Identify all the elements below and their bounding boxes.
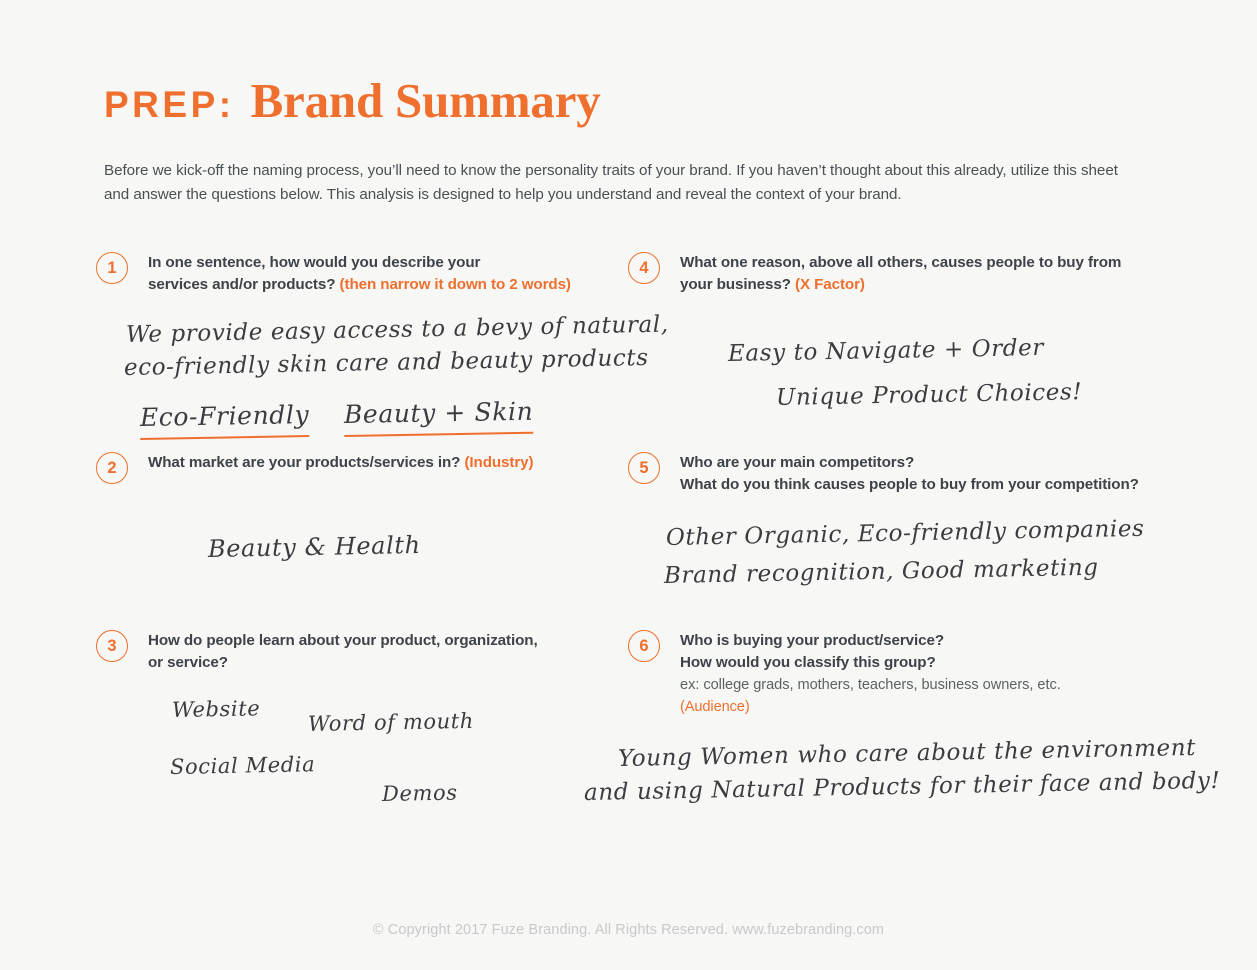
page-title: PREP: Brand Summary xyxy=(104,76,1164,125)
answer-3-item-4: Demos xyxy=(382,781,458,806)
answer-4-line-1: Easy to Navigate + Order xyxy=(728,335,1044,367)
question-text-1: In one sentence, how would you describe … xyxy=(148,252,571,296)
question-text-5: Who are your main competitors? What do y… xyxy=(680,452,1139,496)
question-hint-2: (Industry) xyxy=(464,454,533,471)
question-number-badge-5: 5 xyxy=(628,452,660,484)
question-text-6: Who is buying your product/service? How … xyxy=(680,630,1061,719)
answer-1-line-2: eco-friendly skin care and beauty produc… xyxy=(124,345,649,381)
question-line-4b: your business? xyxy=(680,276,791,293)
answer-3-item-1: Website xyxy=(172,696,261,722)
question-text-3: How do people learn about your product, … xyxy=(148,630,538,674)
answer-1-keyword-1: Eco-Friendly xyxy=(140,400,310,440)
answer-6-line-2: and using Natural Products for their fac… xyxy=(584,768,1221,806)
title-prefix: PREP: xyxy=(104,86,235,123)
question-block-6: 6 Who is buying your product/service? Ho… xyxy=(628,630,1061,719)
answer-3-item-2: Word of mouth xyxy=(308,709,474,736)
page-header: PREP: Brand Summary Before we kick-off t… xyxy=(104,76,1164,207)
question-line-1b: services and/or products? xyxy=(148,276,335,293)
question-line-3b: or service? xyxy=(148,654,228,671)
worksheet-page: PREP: Brand Summary Before we kick-off t… xyxy=(0,0,1257,970)
question-number-badge-2: 2 xyxy=(96,452,128,484)
intro-paragraph: Before we kick-off the naming process, y… xyxy=(104,159,1139,207)
footer-copyright: © Copyright 2017 Fuze Branding. All Righ… xyxy=(0,922,1257,938)
question-line-2a: What market are your products/services i… xyxy=(148,454,460,471)
title-main: Brand Summary xyxy=(251,76,601,125)
question-block-2: 2 What market are your products/services… xyxy=(96,452,533,486)
question-line-4a: What one reason, above all others, cause… xyxy=(680,254,1121,271)
question-block-4: 4 What one reason, above all others, cau… xyxy=(628,252,1121,296)
answer-4-line-2: Unique Product Choices! xyxy=(776,379,1083,411)
question-number-badge-4: 4 xyxy=(628,252,660,284)
question-line-6b: How would you classify this group? xyxy=(680,654,936,671)
question-number-badge-3: 3 xyxy=(96,630,128,662)
question-block-5: 5 Who are your main competitors? What do… xyxy=(628,452,1139,496)
answer-2-line-1: Beauty & Health xyxy=(208,531,421,563)
question-heading-1: 1 In one sentence, how would you describ… xyxy=(96,252,571,296)
question-heading-3: 3 How do people learn about your product… xyxy=(96,630,538,674)
question-line-1a: In one sentence, how would you describe … xyxy=(148,254,480,271)
question-heading-4: 4 What one reason, above all others, cau… xyxy=(628,252,1121,296)
question-text-2: What market are your products/services i… xyxy=(148,452,533,474)
question-example-6: ex: college grads, mothers, teachers, bu… xyxy=(680,677,1061,693)
question-hint-6: (Audience) xyxy=(680,699,750,715)
answer-5-line-1: Other Organic, Eco-friendly companies xyxy=(666,516,1145,551)
answer-1-keyword-2: Beauty + Skin xyxy=(344,397,534,437)
answer-3-item-3: Social Media xyxy=(170,752,316,779)
question-line-5a: Who are your main competitors? xyxy=(680,454,914,471)
answer-6-line-1: Young Women who care about the environme… xyxy=(618,735,1196,772)
question-block-1: 1 In one sentence, how would you describ… xyxy=(96,252,571,296)
question-line-6a: Who is buying your product/service? xyxy=(680,632,944,649)
question-line-3a: How do people learn about your product, … xyxy=(148,632,538,649)
question-block-3: 3 How do people learn about your product… xyxy=(96,630,538,674)
answer-5-line-2: Brand recognition, Good marketing xyxy=(664,555,1099,589)
question-line-5b: What do you think causes people to buy f… xyxy=(680,476,1139,493)
question-heading-6: 6 Who is buying your product/service? Ho… xyxy=(628,630,1061,719)
answer-1-line-1: We provide easy access to a bevy of natu… xyxy=(126,312,669,348)
question-heading-5: 5 Who are your main competitors? What do… xyxy=(628,452,1139,496)
question-hint-4: (X Factor) xyxy=(795,276,865,293)
question-text-4: What one reason, above all others, cause… xyxy=(680,252,1121,296)
question-number-badge-6: 6 xyxy=(628,630,660,662)
question-heading-2: 2 What market are your products/services… xyxy=(96,452,533,486)
question-hint-1: (then narrow it down to 2 words) xyxy=(340,276,571,293)
question-number-badge-1: 1 xyxy=(96,252,128,284)
